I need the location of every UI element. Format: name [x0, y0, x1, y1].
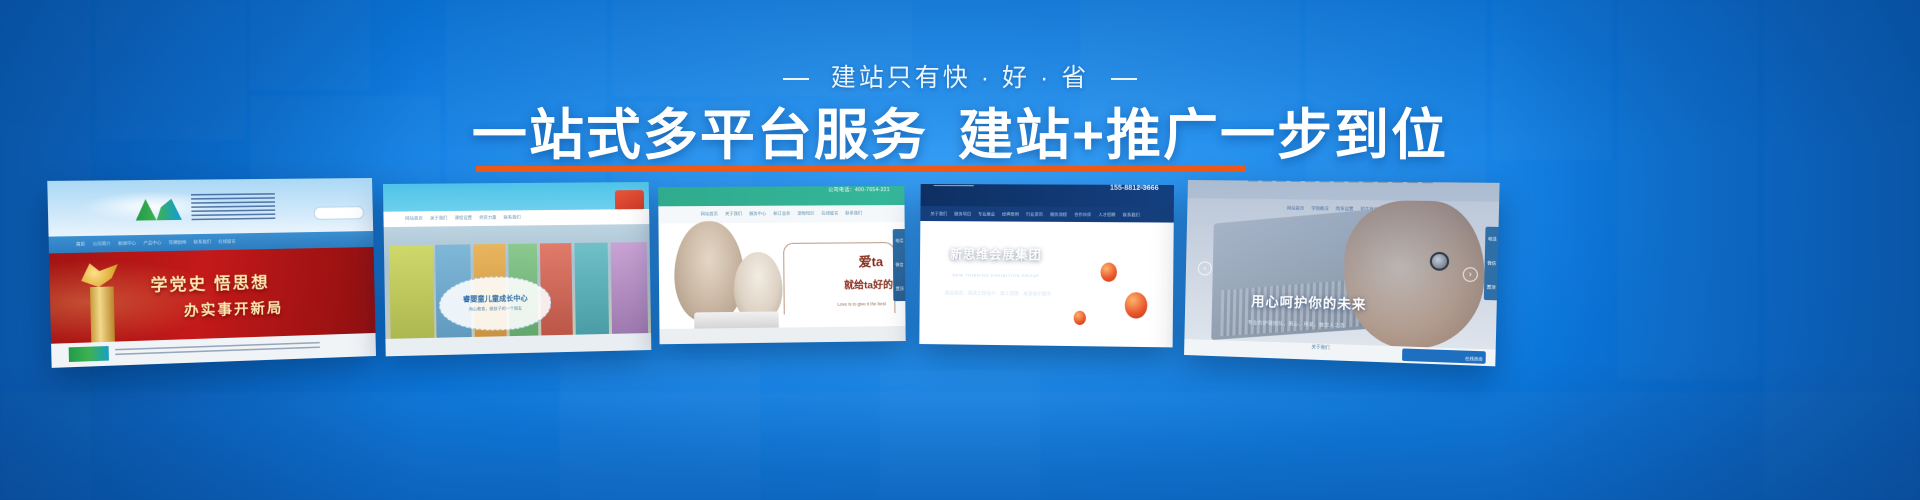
hero-subtitle-en: NEW THINKING EXHIBITION GROUP: [952, 272, 1039, 278]
showcase-card-kindergarten[interactable]: 网站首页 关于我们 课程设置 师资力量 联系我们: [383, 182, 651, 356]
site-phone-text: 公司电话：400-7654-321: [828, 187, 890, 194]
hero-overlay-tint: [1188, 180, 1500, 183]
balloon-icon-3: [1074, 311, 1086, 325]
nav-item[interactable]: 产品中心: [143, 240, 161, 247]
site-logo-icon: [933, 185, 973, 187]
party-emblem-icon: [76, 261, 120, 289]
nav-item[interactable]: 首页: [76, 242, 85, 248]
nav-item[interactable]: 新订业务: [773, 211, 790, 217]
side-item-top[interactable]: 置顶: [1487, 285, 1496, 292]
nav-item[interactable]: 课程设置: [455, 215, 472, 221]
nav-item[interactable]: 联系我们: [194, 239, 212, 245]
nav-item[interactable]: 服务流程: [1050, 211, 1067, 217]
site-hero-banner: 学党史 悟思想 办实事开新局: [49, 247, 376, 343]
hero-english-text: Love is to give it the best: [837, 301, 886, 307]
site-screenshot: 网站首页 关于我们 课程设置 师资力量 联系我们: [383, 182, 651, 356]
balloon-icon-1: [1100, 262, 1116, 281]
site-screenshot: 公司电话：400-7654-321 网站首页 关于我们 服务中心 新订业务 宠物…: [658, 186, 906, 344]
site-side-toolbar[interactable]: 电话 微信 置顶: [1484, 227, 1500, 301]
nav-item[interactable]: 关于我们: [430, 216, 447, 222]
site-hero-image: 用心呵护你的未来 专业的护理团队，用心、用爱，做您人之选 ‹ ›: [1188, 180, 1500, 183]
dash-right-icon: [1111, 78, 1137, 80]
balloon-icon-2: [1125, 292, 1148, 319]
nav-item[interactable]: 师资力量: [479, 215, 496, 221]
hero-title: 睿婴童儿童成长中心: [451, 293, 539, 305]
headline-part-1: 一站式多平台服务: [472, 104, 928, 166]
banner-headline: 一站式多平台服务建站+推广一步到位: [472, 104, 1448, 167]
site-header: [383, 182, 649, 212]
nav-item[interactable]: 专业展会: [978, 211, 995, 217]
site-screenshot: 网站首页 学院概况 院系设置 招生就业 师资队伍 新闻动态 用心呵护你的未来: [1184, 180, 1500, 366]
subtitle-text: 建站只有快 · 好 · 省: [831, 64, 1089, 92]
site-logo-text: [191, 193, 275, 221]
footer-logo-icon: [68, 346, 109, 362]
showcase-card-exhibition[interactable]: 全国热线 155-8812-3666 关于我们 服务项目 专业展会 经典案例 行…: [919, 184, 1174, 347]
dash-left-icon: [783, 78, 809, 80]
hero-title: 爱ta: [858, 251, 883, 270]
hero-tagline: 展会展览、展览工程设计、施工搭建、展览展示服务: [945, 290, 1052, 297]
side-item-phone[interactable]: 电话: [1488, 236, 1497, 242]
nav-item[interactable]: 人才招聘: [1098, 212, 1115, 218]
hero-subtitle: 用心教育，做孩子的一个朋友: [449, 305, 542, 313]
nav-item[interactable]: 服务中心: [749, 211, 766, 217]
showcase-card-party-history[interactable]: 首页 公司简介 新闻中心 产品中心 党建园地 联系我们 在线留言 学党史 悟思想…: [47, 178, 376, 368]
hero-title-line2: 办实事开新局: [184, 298, 284, 321]
footer-text-lines: [115, 342, 319, 359]
nav-item[interactable]: 在线留言: [821, 210, 838, 216]
cat-photo-graphic: [673, 221, 743, 322]
site-screenshot: 首页 公司简介 新闻中心 产品中心 党建园地 联系我们 在线留言 学党史 悟思想…: [47, 178, 376, 368]
nav-item[interactable]: 服务项目: [954, 211, 971, 217]
site-footer: [659, 325, 905, 344]
footer-link[interactable]: 关于我们: [1311, 344, 1329, 351]
site-navbar[interactable]: 关于我们 服务项目 专业展会 经典案例 行业资讯 服务流程 合作伙伴 人才招聘 …: [920, 206, 1173, 222]
nav-item[interactable]: 在线留言: [218, 239, 236, 245]
hero-title-line1: 学党史 悟思想: [150, 269, 270, 297]
nav-item[interactable]: 合作伙伴: [1074, 211, 1091, 217]
site-phone-number: 155-8812-3666: [1110, 185, 1159, 192]
side-item-wechat[interactable]: 微信: [1487, 260, 1496, 266]
banner-headline-wrap: 一站式多平台服务建站+推广一步到位: [0, 104, 1920, 167]
hero-title: 新思维会展集团: [950, 245, 1042, 263]
side-item-wechat[interactable]: 微信: [895, 262, 903, 268]
showcase-card-nursing[interactable]: 网站首页 学院概况 院系设置 招生就业 师资队伍 新闻动态 用心呵护你的未来: [1184, 180, 1500, 366]
side-item-phone[interactable]: 电话: [895, 238, 903, 244]
nav-item[interactable]: 宠物知识: [797, 211, 814, 217]
site-navbar[interactable]: 网站首页 关于我们 服务中心 新订业务 宠物知识 在线留言 联系我们: [658, 205, 904, 224]
site-screenshot: 全国热线 155-8812-3666 关于我们 服务项目 专业展会 经典案例 行…: [919, 184, 1174, 347]
headline-part-2: 建站+推广一步到位: [958, 104, 1448, 166]
site-side-toolbar[interactable]: 电话 微信 置顶: [893, 229, 906, 300]
nav-item[interactable]: 党建园地: [169, 240, 187, 247]
nav-item[interactable]: 关于我们: [725, 211, 742, 217]
site-header: 全国热线 155-8812-3666: [921, 184, 1175, 208]
banner-subtitle: 建站只有快 · 好 · 省: [0, 58, 1920, 94]
monument-graphic: [90, 286, 115, 342]
nav-item[interactable]: 经典案例: [1002, 211, 1019, 217]
nav-item[interactable]: 新闻中心: [118, 241, 136, 248]
hero-title-2: 就给ta好的: [844, 276, 893, 292]
nav-item[interactable]: 联系我们: [1123, 212, 1140, 218]
showcase-card-strip: 首页 公司简介 新闻中心 产品中心 党建园地 联系我们 在线留言 学党史 悟思想…: [0, 168, 1920, 378]
nav-item[interactable]: 网站首页: [405, 216, 423, 222]
side-item-top[interactable]: 置顶: [896, 286, 904, 292]
nav-item[interactable]: 网站首页: [701, 211, 718, 217]
nav-item[interactable]: 关于我们: [930, 211, 947, 217]
nav-item[interactable]: 联系我们: [845, 210, 862, 216]
site-search-input[interactable]: [313, 207, 363, 220]
nav-item[interactable]: 行业资讯: [1026, 211, 1043, 217]
site-topbar: 公司电话：400-7654-321: [658, 186, 904, 206]
promo-banner: 建站只有快 · 好 · 省 一站式多平台服务建站+推广一步到位 首页 公司简介 …: [0, 0, 1920, 500]
nav-item[interactable]: 公司简介: [93, 241, 111, 248]
nav-item[interactable]: 联系我们: [504, 215, 521, 221]
online-chat-label[interactable]: 在线咨询: [1465, 356, 1482, 363]
showcase-card-pet-care[interactable]: 公司电话：400-7654-321 网站首页 关于我们 服务中心 新订业务 宠物…: [658, 186, 906, 344]
